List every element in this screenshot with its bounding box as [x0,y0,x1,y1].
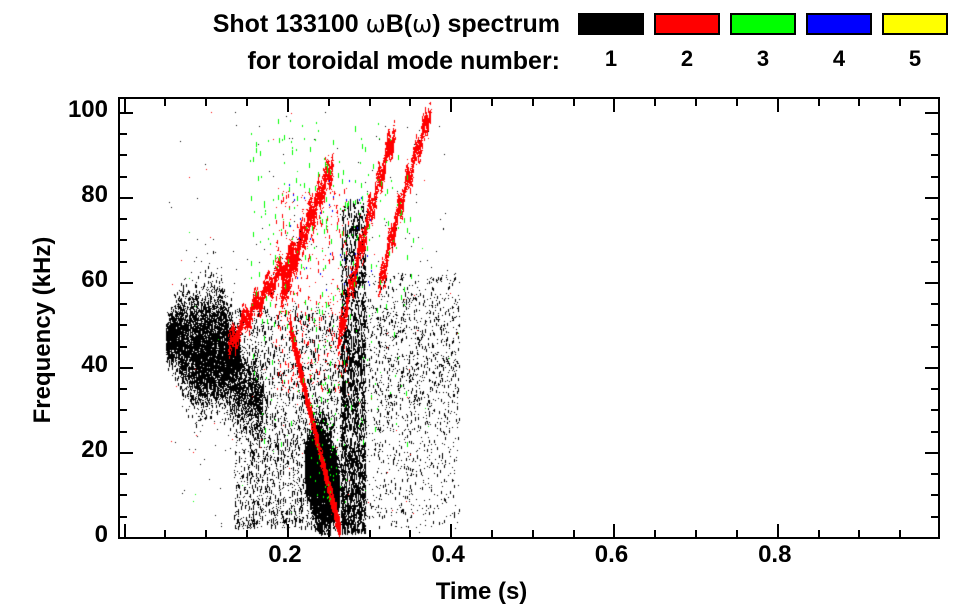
x-tick-label-0.4: 0.4 [408,543,488,567]
x-axis-tick-labels: 0.20.40.60.8 [0,0,963,615]
x-tick-label-0.6: 0.6 [571,543,651,567]
spectrogram-figure: Shot 133100 ωB(ω) spectrum for toroidal … [0,0,963,615]
x-tick-label-0.8: 0.8 [735,543,815,567]
x-tick-label-0.2: 0.2 [245,543,325,567]
x-axis-label: Time (s) [0,578,963,606]
y-axis-label: Frequency (kHz) [29,130,57,530]
